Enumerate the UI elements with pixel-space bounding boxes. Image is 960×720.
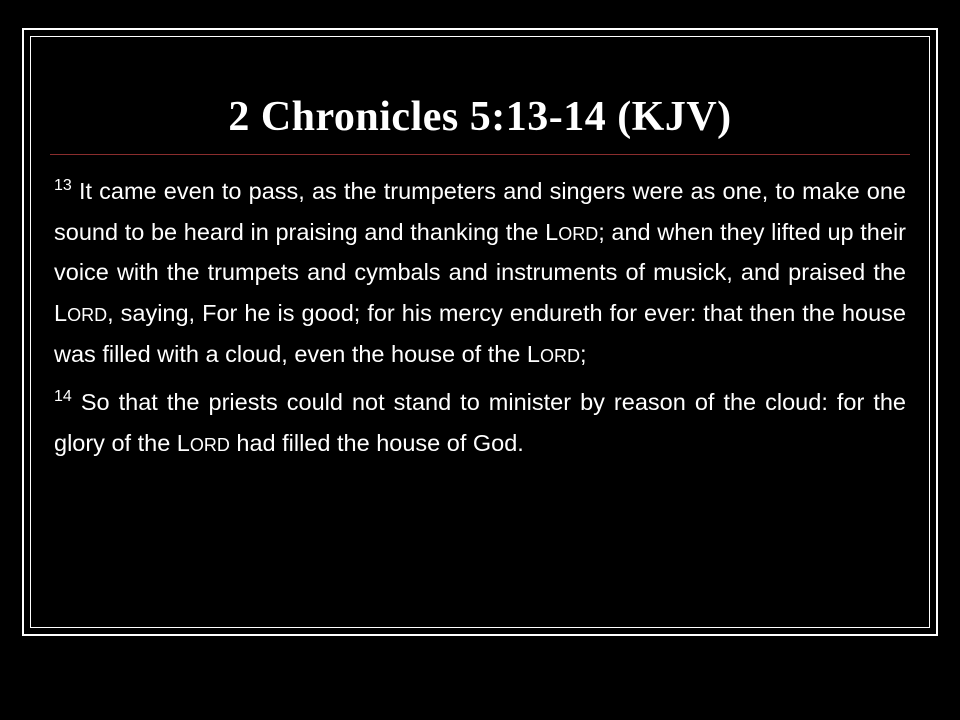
divine-name-lord-3: LORD (527, 341, 580, 367)
verse-14: 14 So that the priests could not stand t… (54, 382, 906, 463)
divine-name-initial: L (177, 430, 190, 456)
divine-name-smallcaps: ORD (558, 224, 598, 244)
divine-name-initial: L (545, 219, 558, 245)
scripture-body: 13 It came even to pass, as the trumpete… (44, 171, 916, 463)
divine-name-lord-1: LORD (545, 219, 598, 245)
verse-text-part-2: had filled the house of God. (230, 430, 524, 456)
divine-name-initial: L (527, 341, 540, 367)
divine-name-smallcaps: ORD (540, 346, 580, 366)
divine-name-smallcaps: ORD (67, 305, 107, 325)
divine-name-lord-2: LORD (54, 300, 107, 326)
verse-number: 13 (54, 177, 72, 194)
divine-name-smallcaps: ORD (190, 435, 230, 455)
divine-name-lord-1: LORD (177, 430, 230, 456)
verse-13: 13 It came even to pass, as the trumpete… (54, 171, 906, 374)
verse-text-part-3: , saying, For he is good; for his mercy … (54, 300, 906, 367)
verse-text-part-4: ; (580, 341, 587, 367)
slide-content: 2 Chronicles 5:13-14 (KJV) 13 It came ev… (44, 52, 916, 612)
title-divider (50, 154, 910, 155)
divine-name-initial: L (54, 300, 67, 326)
page-title: 2 Chronicles 5:13-14 (KJV) (44, 52, 916, 154)
verse-number: 14 (54, 389, 72, 406)
slide: 2 Chronicles 5:13-14 (KJV) 13 It came ev… (0, 0, 960, 720)
